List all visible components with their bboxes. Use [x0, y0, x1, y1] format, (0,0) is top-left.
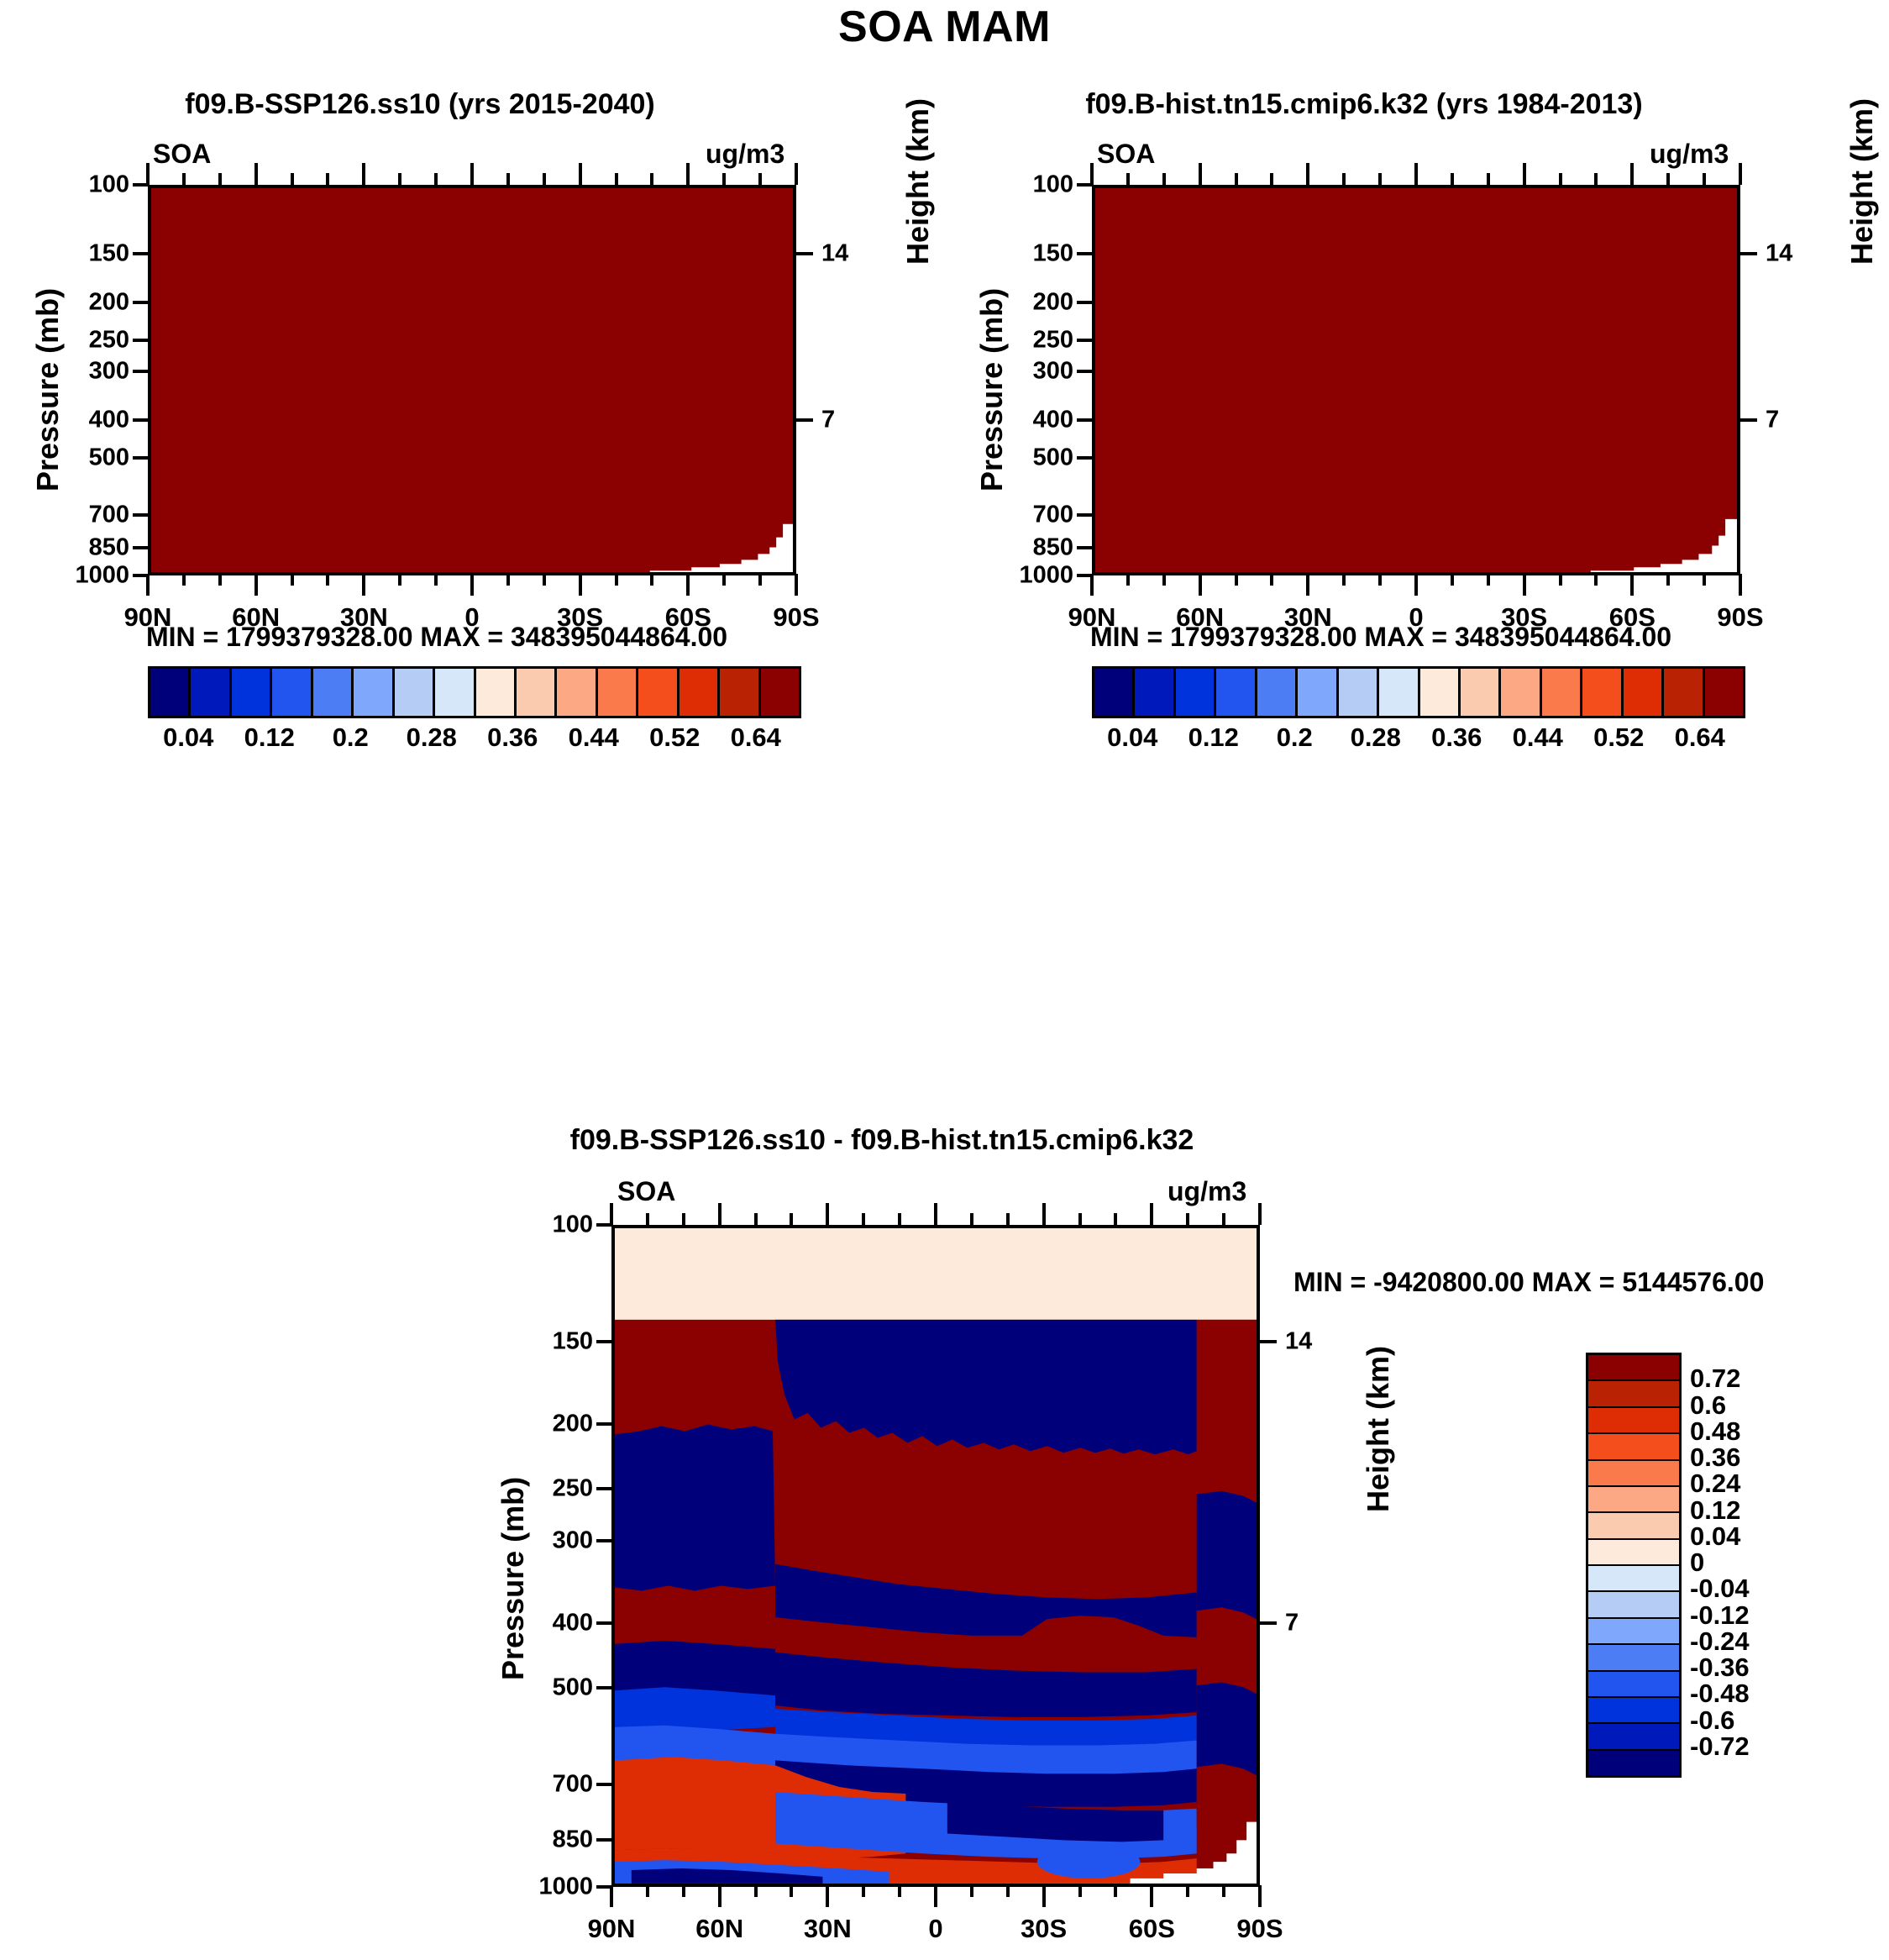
lat-tick-mark-top-major: [1523, 163, 1526, 185]
lat-tick-mark-minor: [754, 1885, 758, 1897]
lat-tick-mark-minor: [615, 574, 618, 586]
lat-tick-mark-top-major: [1739, 163, 1742, 185]
colorbar-cell: [1588, 1381, 1679, 1407]
lat-tick-mark-minor: [1126, 574, 1130, 586]
colorbar-cell: [1588, 1434, 1679, 1460]
panel-top-left-colorbar-labels: 0.040.120.20.280.360.440.520.64: [148, 723, 796, 756]
colorbar-tick-label: 0.36: [487, 723, 538, 753]
pressure-tick-mark: [1077, 418, 1094, 422]
pressure-tick-mark: [133, 546, 150, 549]
pressure-tick-label: 400: [1000, 406, 1073, 434]
pressure-tick-label: 1000: [519, 1873, 593, 1901]
lat-tick-label: 60N: [695, 1914, 743, 1944]
colorbar-cell: [1588, 1487, 1679, 1513]
lat-tick-mark-top-minor: [398, 173, 401, 185]
pressure-tick-label: 300: [1000, 357, 1073, 385]
lat-tick-mark-top-major: [718, 1203, 721, 1225]
lat-tick-mark-minor: [646, 1885, 649, 1897]
lat-tick-mark-top-major: [1258, 1203, 1262, 1225]
lat-tick-mark-minor: [898, 1885, 901, 1897]
colorbar-cell: [272, 669, 312, 716]
panel-difference-ylabel: Pressure (mb): [496, 1477, 531, 1680]
lat-tick-label: 90S: [773, 602, 819, 633]
colorbar-cell: [1588, 1645, 1679, 1671]
lat-tick-mark-top-minor: [291, 173, 294, 185]
pressure-tick-mark: [1077, 301, 1094, 304]
lat-tick-mark-minor: [1451, 574, 1454, 586]
lat-tick-mark-top-minor: [326, 173, 329, 185]
lat-tick-mark-major: [470, 574, 474, 596]
panel-top-left-plot: [148, 185, 796, 575]
colorbar-cell: [1588, 1540, 1679, 1566]
lat-tick-mark-minor: [1078, 1885, 1082, 1897]
lat-tick-mark-top-minor: [682, 1213, 685, 1225]
lat-tick-mark-top-minor: [218, 173, 222, 185]
pressure-tick-label: 850: [1000, 534, 1073, 562]
lat-tick-mark-top-minor: [650, 173, 653, 185]
lat-tick-mark-top-minor: [1559, 173, 1562, 185]
lat-tick-mark-minor: [650, 574, 653, 586]
pressure-tick-mark: [133, 339, 150, 342]
panel-top-right-plot: [1092, 185, 1740, 575]
lat-tick-label: 0: [1409, 602, 1423, 633]
colorbar-cell: [191, 669, 231, 716]
colorbar-cell: [1257, 669, 1298, 716]
lat-tick-mark-major: [254, 574, 258, 596]
pressure-tick-mark: [133, 370, 150, 373]
colorbar-cell: [435, 669, 475, 716]
pressure-tick-label: 100: [519, 1211, 593, 1239]
panel-top-right-title: f09.B-hist.tn15.cmip6.k32 (yrs 1984-2013…: [944, 88, 1784, 121]
lat-tick-label: 90N: [1068, 602, 1116, 633]
lat-tick-mark-top-minor: [182, 173, 186, 185]
pressure-tick-mark: [596, 1686, 613, 1689]
lat-tick-mark-top-minor: [1078, 1213, 1082, 1225]
colorbar-cell: [1588, 1619, 1679, 1645]
lat-tick-mark-major: [1090, 574, 1094, 596]
height-tick-mark: [1739, 252, 1757, 255]
colorbar-tick-label: 0.64: [731, 723, 781, 753]
colorbar-tick-label: 0.44: [1513, 723, 1563, 753]
lat-tick-mark-top-major: [254, 163, 258, 185]
colorbar-cell: [1379, 669, 1419, 716]
lat-tick-mark-top-major: [686, 163, 690, 185]
lat-tick-mark-major: [1414, 574, 1418, 596]
colorbar-cell: [1135, 669, 1175, 716]
pressure-tick-mark: [133, 301, 150, 304]
colorbar-cell: [720, 669, 760, 716]
height-tick-mark: [795, 252, 813, 255]
lat-tick-mark-top-minor: [1487, 173, 1490, 185]
colorbar-tick-label: 0.44: [569, 723, 619, 753]
lat-tick-label: 60N: [1176, 602, 1224, 633]
colorbar-cell: [313, 669, 354, 716]
lat-tick-mark-major: [1042, 1885, 1046, 1907]
lat-tick-mark-minor: [1594, 574, 1598, 586]
pressure-tick-label: 150: [519, 1327, 593, 1355]
pressure-tick-label: 200: [519, 1411, 593, 1438]
terrain-mask: [1095, 188, 1737, 575]
pressure-tick-mark: [596, 1621, 613, 1625]
lat-tick-mark-top-minor: [1235, 173, 1238, 185]
lat-tick-mark-top-minor: [790, 1213, 793, 1225]
lat-tick-mark-top-major: [579, 163, 582, 185]
lat-tick-mark-major: [146, 574, 150, 596]
lat-tick-mark-minor: [1703, 574, 1706, 586]
panel-difference: f09.B-SSP126.ss10 - f09.B-hist.tn15.cmip…: [0, 1109, 1889, 1960]
colorbar-cell: [517, 669, 557, 716]
pressure-tick-label: 300: [55, 357, 129, 385]
colorbar-cell: [232, 669, 272, 716]
page-title: SOA MAM: [0, 2, 1889, 52]
panel-top-left-title: f09.B-SSP126.ss10 (yrs 2015-2040): [0, 88, 840, 121]
lat-tick-mark-minor: [506, 574, 510, 586]
pressure-tick-mark: [133, 252, 150, 255]
lat-tick-mark-minor: [1235, 574, 1238, 586]
colorbar-tick-label: 0.28: [407, 723, 457, 753]
colorbar-cell: [1461, 669, 1501, 716]
pressure-tick-label: 250: [1000, 327, 1073, 355]
pressure-tick-label: 100: [1000, 171, 1073, 199]
colorbar-cell: [638, 669, 679, 716]
lat-tick-mark-top-major: [470, 163, 474, 185]
lat-tick-mark-minor: [970, 1885, 973, 1897]
colorbar-cell: [1094, 669, 1135, 716]
colorbar-tick-label: 0.64: [1675, 723, 1725, 753]
panel-top-left-colorbar[interactable]: [148, 666, 801, 718]
colorbar-tick-label: -0.72: [1690, 1731, 1750, 1762]
pressure-tick-mark: [596, 1422, 613, 1426]
lat-tick-mark-top-major: [610, 1203, 613, 1225]
lat-tick-mark-minor: [1162, 574, 1166, 586]
lat-tick-mark-minor: [1222, 1885, 1225, 1897]
colorbar-cell: [1339, 669, 1379, 716]
lat-tick-label: 90S: [1236, 1914, 1283, 1944]
lat-tick-mark-top-major: [1090, 163, 1094, 185]
colorbar-cell: [1588, 1698, 1679, 1724]
lat-tick-mark-minor: [722, 574, 726, 586]
lat-tick-mark-top-minor: [754, 1213, 758, 1225]
lat-tick-mark-top-minor: [434, 173, 438, 185]
pressure-tick-label: 400: [55, 406, 129, 434]
lat-tick-mark-minor: [1270, 574, 1273, 586]
colorbar-cell: [1420, 669, 1461, 716]
colorbar-cell: [395, 669, 435, 716]
lat-tick-mark-major: [610, 1885, 613, 1907]
pressure-tick-label: 1000: [55, 562, 129, 590]
pressure-tick-label: 300: [519, 1526, 593, 1554]
lat-tick-mark-major: [718, 1885, 721, 1907]
colorbar-cell: [761, 669, 799, 716]
pressure-tick-label: 500: [1000, 444, 1073, 472]
pressure-tick-label: 200: [1000, 288, 1073, 316]
lat-tick-mark-major: [1523, 574, 1526, 596]
colorbar-cell: [150, 669, 191, 716]
pressure-tick-mark: [596, 1783, 613, 1786]
lat-tick-mark-minor: [1114, 1885, 1117, 1897]
colorbar-cell: [1588, 1461, 1679, 1487]
colorbar-tick-label: 0.12: [244, 723, 295, 753]
colorbar-cell: [1542, 669, 1582, 716]
colorbar-cell: [1588, 1672, 1679, 1698]
pressure-tick-mark: [1077, 370, 1094, 373]
pressure-tick-label: 850: [55, 534, 129, 562]
pressure-tick-label: 150: [1000, 239, 1073, 267]
terrain-mask: [151, 188, 793, 575]
lat-tick-mark-top-major: [1414, 163, 1418, 185]
lat-tick-mark-top-minor: [1594, 173, 1598, 185]
lat-tick-mark-major: [795, 574, 798, 596]
lat-tick-mark-top-major: [795, 163, 798, 185]
lat-tick-mark-major: [1258, 1885, 1262, 1907]
panel-top-right: f09.B-hist.tn15.cmip6.k32 (yrs 1984-2013…: [944, 50, 1889, 1143]
lat-tick-label: 30N: [1284, 602, 1332, 633]
lat-tick-mark-minor: [1559, 574, 1562, 586]
colorbar-cell: [557, 669, 597, 716]
panel-top-left-unit-label: ug/m3: [706, 139, 784, 170]
lat-tick-mark-top-major: [1199, 163, 1202, 185]
height-tick-mark: [1739, 418, 1757, 422]
pressure-tick-label: 500: [519, 1674, 593, 1701]
colorbar-cell: [680, 669, 720, 716]
colorbar-cell: [1588, 1566, 1679, 1592]
pressure-tick-label: 100: [55, 171, 129, 199]
lat-tick-mark-top-minor: [1162, 173, 1166, 185]
lat-tick-mark-top-minor: [1222, 1213, 1225, 1225]
lat-tick-mark-top-major: [1630, 163, 1634, 185]
lat-tick-mark-top-minor: [1186, 1213, 1189, 1225]
panel-top-right-var-label: SOA: [1097, 139, 1155, 170]
lat-tick-mark-minor: [434, 574, 438, 586]
lat-tick-mark-minor: [398, 574, 401, 586]
lat-tick-label: 90S: [1717, 602, 1763, 633]
lat-tick-mark-minor: [790, 1885, 793, 1897]
lat-tick-mark-top-major: [1306, 163, 1309, 185]
lat-tick-mark-major: [826, 1885, 829, 1907]
lat-tick-mark-major: [1630, 574, 1634, 596]
pressure-tick-mark: [1077, 339, 1094, 342]
pressure-tick-mark: [133, 513, 150, 517]
colorbar-tick-label: 0.28: [1351, 723, 1401, 753]
colorbar-cell: [1588, 1513, 1679, 1539]
height-tick-mark: [1258, 1340, 1277, 1343]
lat-tick-mark-minor: [543, 574, 546, 586]
lat-tick-mark-top-major: [826, 1203, 829, 1225]
lat-tick-mark-top-minor: [722, 173, 726, 185]
lat-tick-mark-major: [1306, 574, 1309, 596]
height-tick-mark: [1258, 1621, 1277, 1625]
lat-tick-mark-top-minor: [970, 1213, 973, 1225]
lat-tick-label: 90N: [588, 1914, 636, 1944]
pressure-tick-mark: [596, 1340, 613, 1343]
pressure-tick-label: 250: [55, 327, 129, 355]
lat-tick-mark-top-minor: [1666, 173, 1670, 185]
lat-tick-mark-minor: [326, 574, 329, 586]
pressure-tick-label: 250: [519, 1474, 593, 1502]
lat-tick-mark-top-major: [1042, 1203, 1046, 1225]
height-tick-mark: [795, 418, 813, 422]
pressure-tick-mark: [133, 456, 150, 460]
lat-tick-mark-top-minor: [1126, 173, 1130, 185]
lat-tick-mark-top-minor: [1451, 173, 1454, 185]
colorbar-cell: [1216, 669, 1257, 716]
colorbar-cell: [476, 669, 517, 716]
panel-difference-ylabel-right: Height (km): [1361, 1346, 1396, 1512]
colorbar-cell: [1588, 1751, 1679, 1775]
pressure-tick-label: 400: [519, 1610, 593, 1637]
panel-difference-colorbar-labels: 0.720.60.480.360.240.120.040-0.04-0.12-0…: [1690, 1353, 1824, 1773]
height-tick-label: 14: [1766, 239, 1816, 267]
pressure-tick-label: 700: [55, 501, 129, 528]
lat-tick-mark-top-minor: [1114, 1213, 1117, 1225]
height-tick-label: 14: [821, 239, 872, 267]
lat-tick-mark-major: [362, 574, 365, 596]
lat-tick-label: 30N: [340, 602, 388, 633]
panel-difference-title: f09.B-SSP126.ss10 - f09.B-hist.tn15.cmip…: [521, 1124, 1243, 1157]
panel-difference-colorbar[interactable]: [1586, 1353, 1682, 1778]
height-tick-label: 7: [1766, 406, 1816, 434]
lat-tick-mark-top-minor: [862, 1213, 865, 1225]
panel-top-left: f09.B-SSP126.ss10 (yrs 2015-2040) SOA ug…: [0, 50, 944, 1143]
colorbar-cell: [1664, 669, 1704, 716]
colorbar-cell: [1176, 669, 1216, 716]
lat-tick-mark-minor: [1006, 1885, 1010, 1897]
lat-tick-mark-top-minor: [615, 173, 618, 185]
colorbar-tick-label: 0.04: [1107, 723, 1157, 753]
colorbar-tick-label: 0.2: [333, 723, 369, 753]
colorbar-cell: [1624, 669, 1664, 716]
lat-tick-mark-top-minor: [1006, 1213, 1010, 1225]
pressure-tick-mark: [1077, 513, 1094, 517]
pressure-tick-mark: [1077, 456, 1094, 460]
lat-tick-mark-top-minor: [1703, 173, 1706, 185]
lat-tick-label: 60S: [1609, 602, 1655, 633]
colorbar-tick-label: 0.12: [1188, 723, 1239, 753]
lat-tick-mark-major: [579, 574, 582, 596]
panel-top-left-ylabel-right: Height (km): [900, 98, 936, 265]
colorbar-cell: [1582, 669, 1623, 716]
lat-tick-mark-top-major: [934, 1203, 937, 1225]
height-tick-label: 14: [1285, 1327, 1335, 1355]
colorbar-cell: [354, 669, 394, 716]
lat-tick-mark-top-minor: [1342, 173, 1346, 185]
lat-tick-label: 30S: [1501, 602, 1547, 633]
colorbar-cell: [1588, 1408, 1679, 1434]
colorbar-cell: [1298, 669, 1338, 716]
lat-tick-mark-minor: [1666, 574, 1670, 586]
lat-tick-label: 60N: [232, 602, 280, 633]
lat-tick-mark-top-minor: [646, 1213, 649, 1225]
lat-tick-label: 0: [464, 602, 479, 633]
pressure-tick-label: 1000: [1000, 562, 1073, 590]
pressure-tick-mark: [596, 1539, 613, 1542]
lat-tick-mark-top-minor: [543, 173, 546, 185]
lat-tick-mark-minor: [1378, 574, 1382, 586]
lat-tick-mark-top-minor: [1378, 173, 1382, 185]
lat-tick-label: 0: [928, 1914, 942, 1944]
colorbar-tick-label: 0.36: [1431, 723, 1482, 753]
pressure-tick-mark: [1077, 252, 1094, 255]
height-tick-label: 7: [1285, 1610, 1335, 1637]
panel-top-right-unit-label: ug/m3: [1650, 139, 1729, 170]
lat-tick-mark-top-minor: [898, 1213, 901, 1225]
lat-tick-mark-major: [1150, 1885, 1153, 1907]
lat-tick-label: 90N: [124, 602, 172, 633]
lat-tick-mark-minor: [218, 574, 222, 586]
lat-tick-label: 60S: [1129, 1914, 1175, 1944]
lat-tick-label: 30N: [804, 1914, 852, 1944]
lat-tick-mark-minor: [291, 574, 294, 586]
colorbar-cell: [1588, 1724, 1679, 1750]
lat-tick-mark-top-major: [1150, 1203, 1153, 1225]
height-tick-label: 7: [821, 406, 872, 434]
colorbar-cell: [1588, 1592, 1679, 1618]
panel-difference-var-label: SOA: [617, 1176, 675, 1207]
lat-tick-mark-minor: [862, 1885, 865, 1897]
pressure-tick-mark: [596, 1838, 613, 1842]
lat-tick-mark-minor: [1342, 574, 1346, 586]
panel-top-right-colorbar[interactable]: [1092, 666, 1745, 718]
panel-difference-unit-label: ug/m3: [1168, 1176, 1246, 1207]
pressure-tick-label: 200: [55, 288, 129, 316]
pressure-tick-label: 700: [519, 1770, 593, 1798]
lat-tick-mark-major: [1199, 574, 1202, 596]
pressure-tick-mark: [1077, 546, 1094, 549]
lat-tick-mark-minor: [1186, 1885, 1189, 1897]
colorbar-cell: [1705, 669, 1743, 716]
difference-contour-fill: [615, 1228, 1257, 1884]
pressure-tick-label: 150: [55, 239, 129, 267]
lat-tick-mark-minor: [758, 574, 762, 586]
pressure-tick-label: 700: [1000, 501, 1073, 528]
lat-tick-mark-major: [1739, 574, 1742, 596]
colorbar-tick-label: 0.52: [1593, 723, 1644, 753]
lat-tick-mark-major: [934, 1885, 937, 1907]
panel-top-right-ylabel-right: Height (km): [1844, 98, 1880, 265]
pressure-tick-mark: [133, 418, 150, 422]
panel-difference-minmax: MIN = -9420800.00 MAX = 5144576.00: [1293, 1267, 1873, 1298]
panel-difference-plot: [611, 1225, 1260, 1887]
lat-tick-mark-top-minor: [758, 173, 762, 185]
lat-tick-mark-major: [686, 574, 690, 596]
colorbar-cell: [1588, 1355, 1679, 1381]
lat-tick-mark-top-major: [362, 163, 365, 185]
colorbar-tick-label: 0.52: [649, 723, 700, 753]
colorbar-cell: [1501, 669, 1541, 716]
lat-tick-mark-minor: [1487, 574, 1490, 586]
lat-tick-mark-minor: [182, 574, 186, 586]
colorbar-cell: [598, 669, 638, 716]
lat-tick-mark-minor: [682, 1885, 685, 1897]
lat-tick-label: 30S: [557, 602, 603, 633]
panel-top-right-colorbar-labels: 0.040.120.20.280.360.440.520.64: [1092, 723, 1740, 756]
colorbar-tick-label: 0.04: [163, 723, 213, 753]
lat-tick-mark-top-major: [146, 163, 150, 185]
lat-tick-label: 30S: [1021, 1914, 1067, 1944]
lat-tick-mark-top-minor: [506, 173, 510, 185]
panel-top-left-var-label: SOA: [153, 139, 211, 170]
pressure-tick-label: 850: [519, 1826, 593, 1854]
pressure-tick-mark: [596, 1487, 613, 1490]
lat-tick-label: 60S: [665, 602, 711, 633]
pressure-tick-label: 500: [55, 444, 129, 472]
lat-tick-mark-top-minor: [1270, 173, 1273, 185]
colorbar-tick-label: 0.2: [1277, 723, 1313, 753]
